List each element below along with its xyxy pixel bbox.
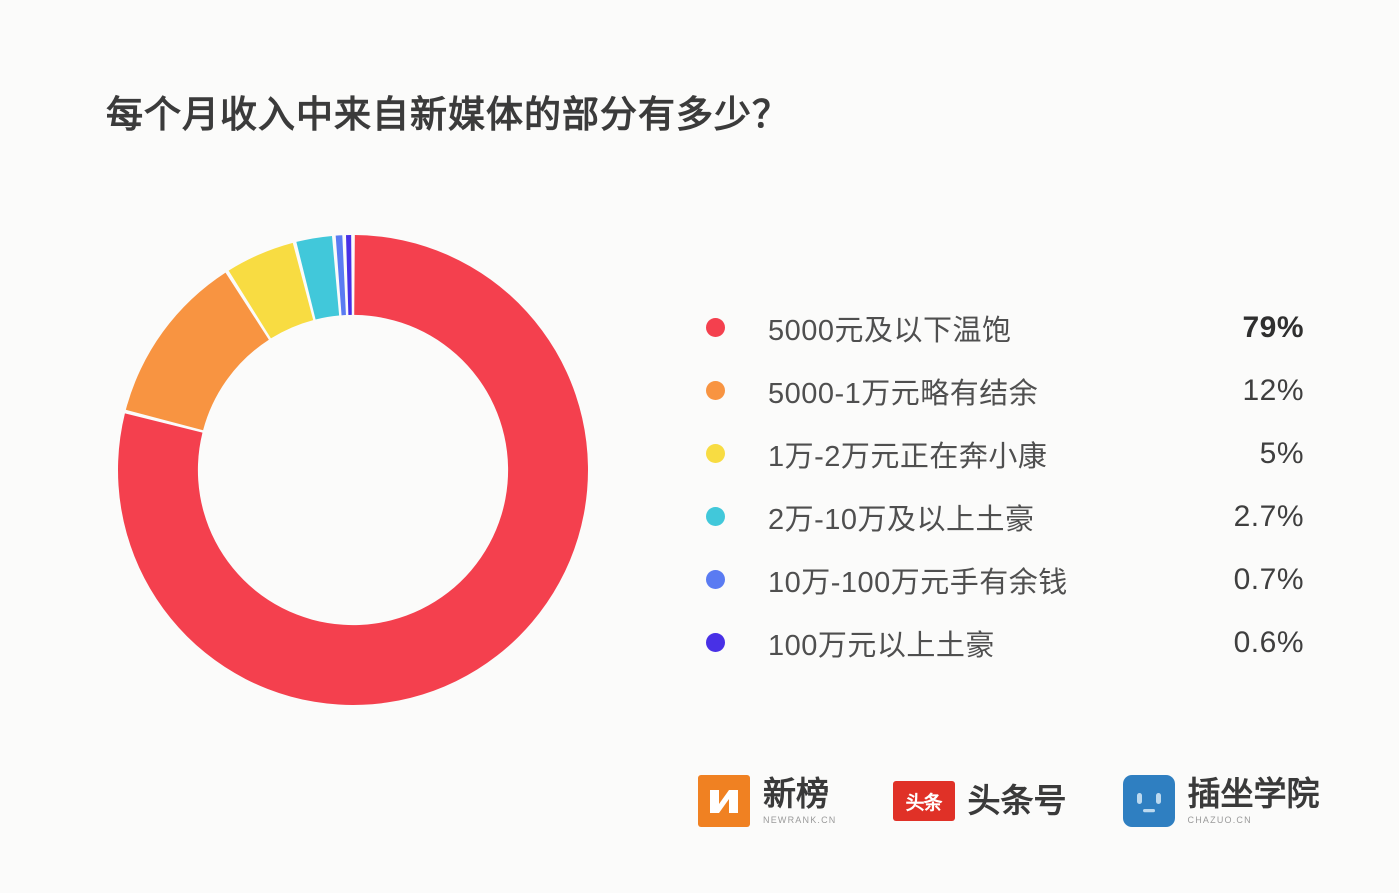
legend-item-value: 0.6%	[1234, 626, 1306, 660]
logo-chazuo-name: 插坐学院	[1188, 777, 1320, 812]
legend-color-swatch	[706, 507, 725, 526]
legend-item-label: 5000-1万元略有结余	[768, 370, 1038, 412]
donut-slice[interactable]	[346, 235, 352, 315]
donut-chart	[118, 235, 588, 705]
logo-newrank-sub: NEWRANK.CN	[763, 815, 837, 825]
legend-color-swatch	[706, 318, 725, 337]
logo-toutiaohao-name: 头条号	[968, 784, 1067, 819]
legend-color-swatch	[706, 444, 725, 463]
logo-newrank: 新榜 NEWRANK.CN	[698, 775, 837, 827]
legend-item-label: 5000元及以下温饱	[768, 307, 1012, 349]
newrank-n-icon	[698, 775, 750, 827]
legend-item-value: 79%	[1242, 311, 1306, 345]
legend-item[interactable]: 1万-2万元正在奔小康5%	[706, 422, 1306, 485]
logo-newrank-name: 新榜	[763, 777, 837, 812]
legend-item-label: 10万-100万元手有余钱	[768, 559, 1068, 601]
legend-item-value: 5%	[1260, 437, 1306, 471]
legend-item-value: 2.7%	[1234, 500, 1306, 534]
legend-item[interactable]: 5000-1万元略有结余12%	[706, 359, 1306, 422]
chart-legend: 5000元及以下温饱79%5000-1万元略有结余12%1万-2万元正在奔小康5…	[706, 296, 1306, 674]
legend-item-label: 1万-2万元正在奔小康	[768, 433, 1047, 475]
legend-item-label: 100万元以上土豪	[768, 622, 995, 664]
legend-item[interactable]: 10万-100万元手有余钱0.7%	[706, 548, 1306, 611]
legend-item[interactable]: 100万元以上土豪0.6%	[706, 611, 1306, 674]
legend-item-label: 2万-10万及以上土豪	[768, 496, 1035, 538]
logo-chazuo-text: 插坐学院 CHAZUO.CN	[1188, 777, 1320, 825]
legend-color-swatch	[706, 381, 725, 400]
logo-chazuo: 插坐学院 CHAZUO.CN	[1123, 775, 1320, 827]
page-title: 每个月收入中来自新媒体的部分有多少？	[106, 84, 790, 138]
legend-item[interactable]: 5000元及以下温饱79%	[706, 296, 1306, 359]
legend-item[interactable]: 2万-10万及以上土豪2.7%	[706, 485, 1306, 548]
footer-logo-row: 新榜 NEWRANK.CN 头条 头条号 插坐学院 CHAZUO.CN	[698, 775, 1320, 827]
legend-color-swatch	[706, 570, 725, 589]
donut-chart-svg	[118, 235, 588, 705]
logo-chazuo-sub: CHAZUO.CN	[1188, 815, 1320, 825]
legend-item-value: 12%	[1242, 374, 1306, 408]
legend-color-swatch	[706, 633, 725, 652]
logo-newrank-text: 新榜 NEWRANK.CN	[763, 777, 837, 825]
logo-toutiaohao: 头条 头条号	[893, 781, 1067, 821]
logo-toutiaohao-text: 头条号	[968, 784, 1067, 819]
legend-item-value: 0.7%	[1234, 563, 1306, 597]
chazuo-face-icon	[1123, 775, 1175, 827]
toutiao-badge-icon: 头条	[893, 781, 955, 821]
donut-slice-group	[118, 235, 588, 705]
